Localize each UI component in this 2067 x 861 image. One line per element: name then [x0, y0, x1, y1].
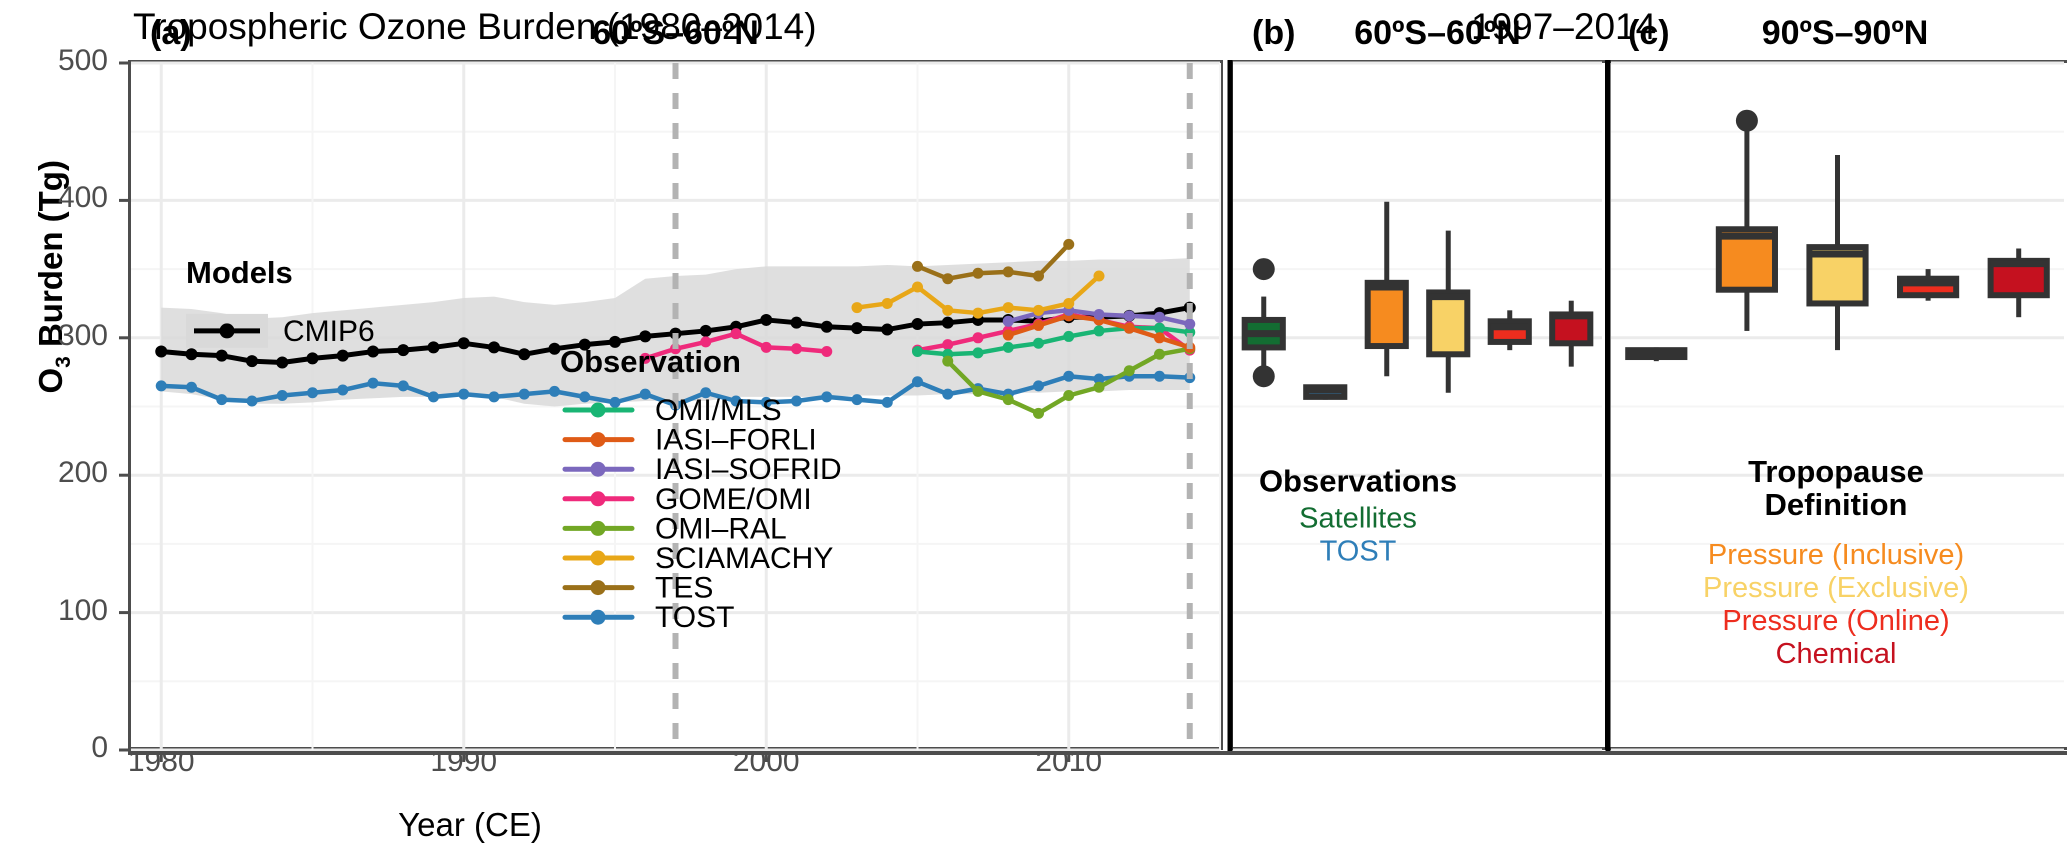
series-point	[518, 348, 530, 360]
boxplot-box	[1368, 283, 1406, 346]
legend-item-label: Chemical	[1776, 638, 1897, 670]
series-point	[942, 356, 953, 367]
series-point	[1154, 312, 1165, 323]
legend-tropopause-header-2: Definition	[1765, 487, 1908, 522]
series-point	[731, 328, 742, 339]
legend-item-label: GOME/OMI	[655, 483, 812, 516]
legend-swatch-point	[591, 610, 606, 625]
series-point	[519, 389, 530, 400]
series-point	[1033, 305, 1044, 316]
legend-swatch-point	[591, 491, 606, 506]
series-point	[1003, 302, 1014, 313]
plot-graphics: ModelsCMIP6ObservationOMI/MLSIASI–FORLII…	[0, 0, 2067, 861]
series-point	[1154, 371, 1165, 382]
series-point	[155, 346, 167, 358]
legend-item-label: TOST	[1320, 536, 1397, 568]
series-point	[1063, 239, 1074, 250]
legend-item-label: TES	[655, 572, 713, 605]
series-point	[1124, 323, 1135, 334]
series-point	[1094, 309, 1105, 320]
series-point	[912, 261, 923, 272]
legend-swatch-point	[591, 462, 606, 477]
series-point	[1063, 298, 1074, 309]
series-point	[851, 322, 863, 334]
series-point	[912, 318, 924, 330]
series-point	[1063, 371, 1074, 382]
series-point	[882, 397, 893, 408]
series-point	[761, 342, 772, 353]
series-point	[398, 380, 409, 391]
legend-item-label: Pressure (Inclusive)	[1708, 539, 1964, 571]
series-point	[277, 390, 288, 401]
series-point	[216, 350, 228, 362]
series-point	[247, 396, 258, 407]
series-point	[852, 302, 863, 313]
series-point	[1003, 394, 1014, 405]
series-point	[821, 321, 833, 333]
series-point	[549, 386, 560, 397]
legend-item-label: IASI–FORLI	[655, 424, 817, 457]
legend-item-label: IASI–SOFRID	[655, 453, 842, 486]
series-point	[1033, 320, 1044, 331]
series-point	[912, 281, 923, 292]
legend-item-label: OMI–RAL	[655, 512, 787, 545]
legend-swatch-point	[591, 580, 606, 595]
series-point	[488, 341, 500, 353]
series-point	[1033, 380, 1044, 391]
series-point	[1154, 323, 1165, 334]
series-point	[1033, 408, 1044, 419]
legend-cmip6-point	[220, 323, 235, 338]
series-point	[428, 391, 439, 402]
series-point	[307, 387, 318, 398]
series-point	[1003, 266, 1014, 277]
series-point	[156, 380, 167, 391]
legend-observations-header: Observations	[1259, 464, 1457, 499]
series-point	[1094, 382, 1105, 393]
series-point	[1033, 270, 1044, 281]
series-point	[549, 343, 561, 355]
series-point	[246, 355, 258, 367]
series-point	[942, 305, 953, 316]
legend-swatch-point	[591, 403, 606, 418]
boxplot-box	[1429, 292, 1467, 354]
series-point	[1124, 310, 1135, 321]
series-point	[186, 348, 198, 360]
series-point	[1003, 316, 1014, 327]
legend-tropopause-header-1: Tropopause	[1748, 454, 1924, 489]
series-point	[1003, 342, 1014, 353]
series-point	[791, 317, 803, 329]
series-point	[760, 314, 772, 326]
series-point	[397, 344, 409, 356]
series-point	[1094, 270, 1105, 281]
series-point	[1184, 319, 1195, 330]
legend-swatch-point	[591, 432, 606, 447]
series-point	[821, 346, 832, 357]
legend-item-label: Pressure (Online)	[1722, 605, 1949, 637]
series-point	[1094, 325, 1105, 336]
series-point	[821, 391, 832, 402]
series-point	[1063, 331, 1074, 342]
series-point	[973, 347, 984, 358]
legend-swatch-point	[591, 521, 606, 536]
series-point	[791, 343, 802, 354]
series-point	[912, 376, 923, 387]
series-point	[973, 308, 984, 319]
legend-item-label: Pressure (Exclusive)	[1703, 572, 1969, 604]
series-point	[579, 391, 590, 402]
series-point	[458, 337, 470, 349]
series-point	[973, 268, 984, 279]
boxplot-outlier	[1253, 365, 1275, 387]
series-point	[942, 389, 953, 400]
series-point	[1063, 390, 1074, 401]
legend-models-header: Models	[186, 255, 293, 290]
series-point	[1154, 349, 1165, 360]
series-point	[640, 389, 651, 400]
series-point	[942, 273, 953, 284]
series-point	[882, 298, 893, 309]
series-point	[852, 394, 863, 405]
series-point	[973, 386, 984, 397]
series-point	[337, 385, 348, 396]
series-point	[368, 378, 379, 389]
boxplot-outlier	[1253, 258, 1275, 280]
boxplot-outlier	[1736, 110, 1758, 132]
series-point	[489, 391, 500, 402]
series-point	[942, 339, 953, 350]
series-point	[276, 357, 288, 369]
legend-item-label: OMI/MLS	[655, 394, 782, 427]
series-point	[912, 346, 923, 357]
series-point	[186, 382, 197, 393]
series-point	[216, 394, 227, 405]
legend-swatch-point	[591, 551, 606, 566]
legend-item-label: Satellites	[1299, 503, 1417, 535]
series-point	[942, 317, 954, 329]
legend-observation-header: Observation	[560, 344, 741, 379]
legend-item-label: TOST	[655, 601, 734, 634]
series-point	[1154, 332, 1165, 343]
series-point	[973, 332, 984, 343]
legend-item-label: SCIAMACHY	[655, 542, 833, 575]
series-point	[700, 325, 712, 337]
series-point	[881, 324, 893, 336]
figure-root: Tropospheric Ozone Burden (1980–2014) 19…	[0, 0, 2067, 861]
series-point	[639, 330, 651, 342]
series-point	[791, 396, 802, 407]
series-point	[307, 352, 319, 364]
series-point	[610, 397, 621, 408]
legend-cmip6-label: CMIP6	[283, 315, 375, 348]
series-point	[1003, 330, 1014, 341]
series-point	[1124, 365, 1135, 376]
series-point	[428, 341, 440, 353]
series-point	[1033, 338, 1044, 349]
series-point	[458, 389, 469, 400]
series-point	[337, 350, 349, 362]
